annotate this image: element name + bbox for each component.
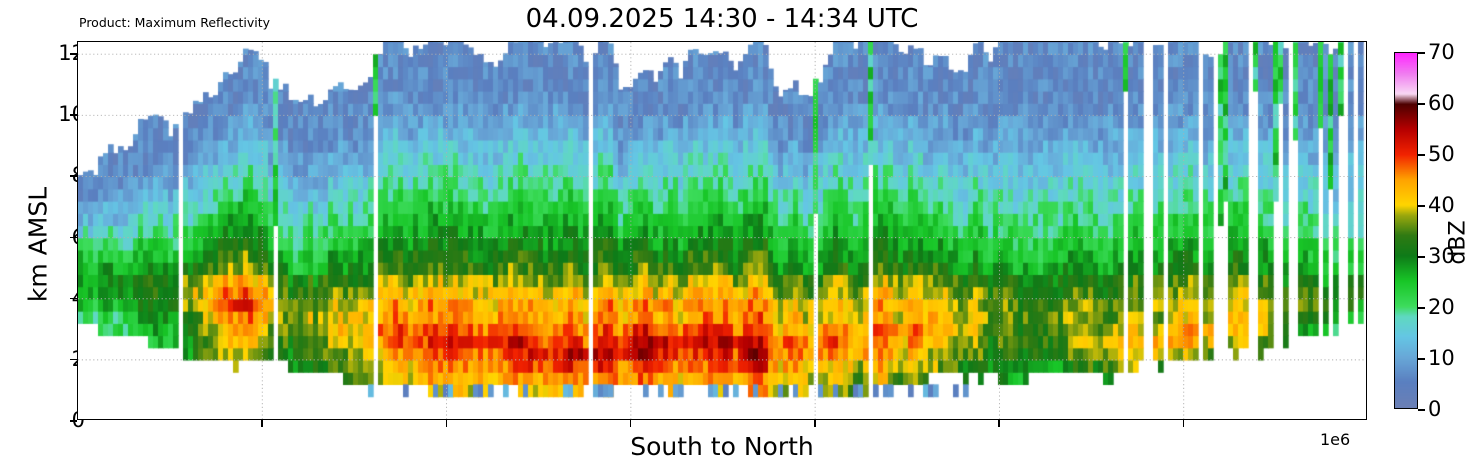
colorbar-tick-mark [1418,52,1425,54]
page-title: 04.09.2025 14:30 - 14:34 UTC [77,4,1367,34]
x-axis-label: South to North [77,432,1367,461]
colorbar-tick-label: 10 [1428,346,1455,370]
reflectivity-heatmap [78,42,1367,420]
y-tick-mark [70,237,77,239]
y-tick-mark [70,298,77,300]
colorbar-tick-label: 60 [1428,91,1455,115]
colorbar-gradient [1395,53,1417,408]
y-tick-mark [70,420,77,422]
colorbar-tick-mark [1418,205,1425,207]
colorbar-label: dBZ [1446,183,1471,303]
y-tick-mark [70,359,77,361]
colorbar-tick-mark [1418,409,1425,411]
x-axis-offset-text: 1e6 [1320,430,1350,449]
colorbar[interactable] [1394,52,1418,409]
y-tick-mark [70,114,77,116]
colorbar-tick-mark [1418,307,1425,309]
colorbar-tick-label: 50 [1428,142,1455,166]
y-tick-mark [70,175,77,177]
y-axis-label: km AMSL [24,145,53,345]
colorbar-tick-mark [1418,103,1425,105]
colorbar-tick-mark [1418,256,1425,258]
y-tick-mark [70,53,77,55]
colorbar-tick-mark [1418,358,1425,360]
colorbar-tick-label: 0 [1428,397,1441,421]
colorbar-tick-mark [1418,154,1425,156]
colorbar-tick-label: 70 [1428,40,1455,64]
product-label: Product: Maximum Reflectivity [79,15,270,30]
radar-cross-section-figure: 04.09.2025 14:30 - 14:34 UTC Product: Ma… [0,0,1482,470]
x-tick-mark [814,420,816,427]
x-tick-mark [998,420,1000,427]
plot-area[interactable] [77,41,1367,420]
x-tick-mark [1183,420,1185,427]
x-tick-mark [446,420,448,427]
x-tick-mark [630,420,632,427]
x-tick-mark [261,420,263,427]
